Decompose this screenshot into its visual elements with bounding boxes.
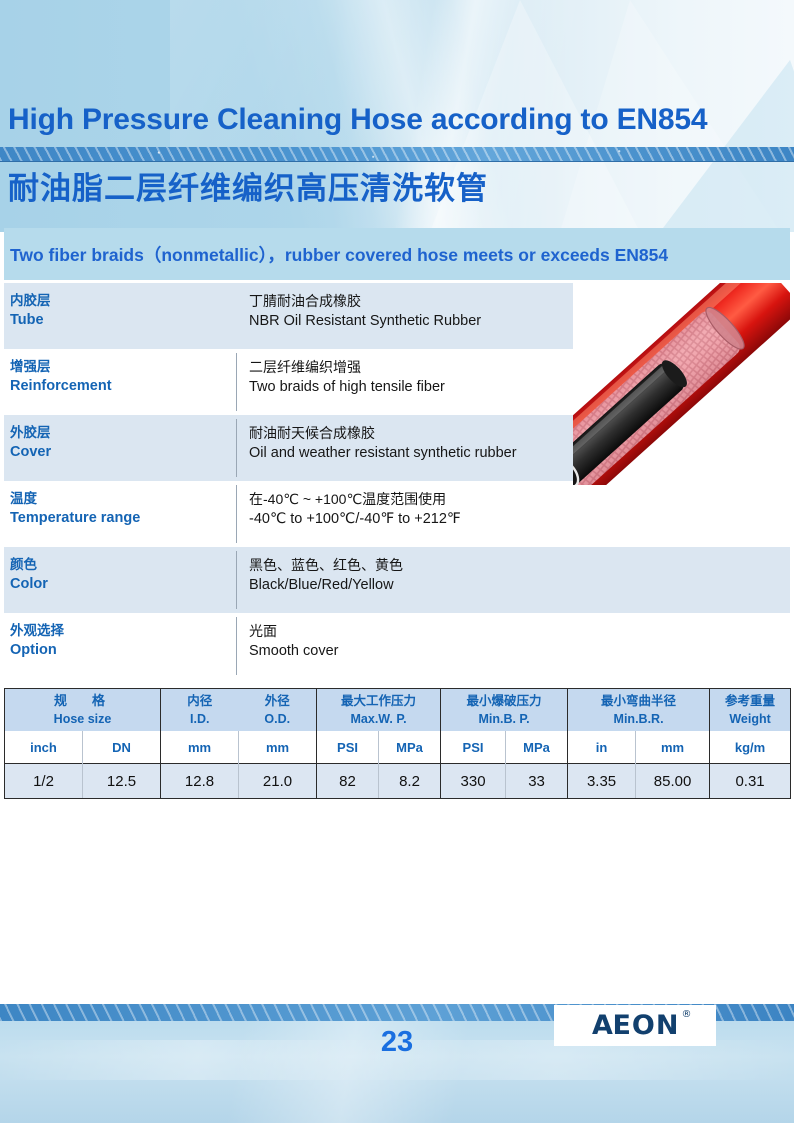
spec-label-en: Color: [10, 574, 236, 595]
spec-value-en: -40℃ to +100℃/-40℉ to +212℉: [249, 509, 790, 530]
cell-inch: 1/2: [5, 764, 83, 799]
spec-value-cn: 黑色、蓝色、红色、黄色: [249, 555, 790, 575]
spec-label-en: Reinforcement: [10, 376, 236, 397]
logo-letter-a: A: [591, 1012, 613, 1039]
spec-label: 外观选择 Option: [4, 613, 236, 679]
logo-letters-eon: EON: [612, 1010, 679, 1041]
table-unit-id-mm: mm: [161, 731, 239, 764]
spec-row: 颜色 Color 黑色、蓝色、红色、黄色 Black/Blue/Red/Yell…: [4, 547, 790, 613]
spec-value-cn: 在-40℃ ~ +100℃温度范围使用: [249, 489, 790, 509]
table-group-weight: 参考重量 Weight: [710, 689, 791, 732]
spec-label-cn: 内胶层: [10, 291, 236, 310]
page-title-chinese: 耐油脂二层纤维编织高压清洗软管: [8, 163, 788, 208]
cell-od-mm: 21.0: [239, 764, 317, 799]
group-label-en: Min.B. P.: [441, 710, 567, 728]
spec-label-en: Option: [10, 640, 236, 661]
group-label-cn: 参考重量: [710, 692, 790, 710]
table-row: 1/2 12.5 12.8 21.0 82 8.2 330 33 3.35 85…: [5, 764, 791, 799]
spec-label-cn: 外胶层: [10, 423, 236, 442]
specification-table: 规 格 Hose size 内径 I.D. 外径 O.D. 最大工作压力 Max…: [4, 688, 791, 799]
table-unit-inch: inch: [5, 731, 83, 764]
group-label-cn: 最小爆破压力: [441, 692, 567, 710]
group-label-en: O.D.: [239, 710, 317, 728]
spec-label: 内胶层 Tube: [4, 283, 236, 349]
subtitle-text: Two fiber braids（nonmetallic），rubber cov…: [4, 242, 668, 267]
table-unit-mbp-mpa: MPa: [506, 731, 568, 764]
hose-cutaway-photo: [573, 283, 790, 485]
table-unit-mwp-mpa: MPa: [379, 731, 441, 764]
cell-mbr-in: 3.35: [568, 764, 636, 799]
spec-label-cn: 增强层: [10, 357, 236, 376]
table-group-od: 外径 O.D.: [239, 689, 317, 732]
spec-label-en: Temperature range: [10, 508, 236, 529]
spec-label: 温度 Temperature range: [4, 481, 236, 547]
table-unit-dn: DN: [83, 731, 161, 764]
spec-label: 外胶层 Cover: [4, 415, 236, 481]
cell-mbr-mm: 85.00: [636, 764, 710, 799]
spec-value-cn: 光面: [249, 621, 790, 641]
table-group-max-working-pressure: 最大工作压力 Max.W. P.: [317, 689, 441, 732]
spec-label-en: Cover: [10, 442, 236, 463]
spec-label-cn: 外观选择: [10, 621, 236, 640]
spec-label: 增强层 Reinforcement: [4, 349, 236, 415]
subtitle-banner: Two fiber braids（nonmetallic），rubber cov…: [4, 228, 790, 280]
group-label-cn: 最大工作压力: [317, 692, 440, 710]
spec-value-en: Smooth cover: [249, 641, 790, 662]
spec-label-cn: 颜色: [10, 555, 236, 574]
table-group-min-bend-radius: 最小弯曲半径 Min.B.R.: [568, 689, 710, 732]
group-label-en: Min.B.R.: [568, 710, 709, 728]
registered-trademark-icon: ®: [681, 1010, 692, 1020]
spec-label-en: Tube: [10, 310, 236, 331]
cell-dn: 12.5: [83, 764, 161, 799]
table-unit-mwp-psi: PSI: [317, 731, 379, 764]
cell-id-mm: 12.8: [161, 764, 239, 799]
table-group-header-row: 规 格 Hose size 内径 I.D. 外径 O.D. 最大工作压力 Max…: [5, 689, 791, 732]
cell-weight: 0.31: [710, 764, 791, 799]
header-band-sparkles: [0, 147, 794, 161]
group-label-en: Weight: [710, 710, 790, 728]
group-label-cn: 最小弯曲半径: [568, 692, 709, 710]
group-label-en: Hose size: [5, 710, 160, 728]
group-label-cn: 规 格: [5, 692, 160, 710]
spec-value: 光面 Smooth cover: [237, 613, 790, 679]
table-group-hose-size: 规 格 Hose size: [5, 689, 161, 732]
spec-value-en: Black/Blue/Red/Yellow: [249, 575, 790, 596]
cell-mbp-psi: 330: [441, 764, 506, 799]
table-group-id: 内径 I.D.: [161, 689, 239, 732]
spec-value: 在-40℃ ~ +100℃温度范围使用 -40℃ to +100℃/-40℉ t…: [237, 481, 790, 547]
spec-value: 黑色、蓝色、红色、黄色 Black/Blue/Red/Yellow: [237, 547, 790, 613]
cell-mbp-mpa: 33: [506, 764, 568, 799]
group-label-en: I.D.: [161, 710, 239, 728]
group-label-cn: 内径: [161, 692, 239, 710]
group-label-cn: 外径: [239, 692, 317, 710]
group-label-en: Max.W. P.: [317, 710, 440, 728]
table-unit-header-row: inch DN mm mm PSI MPa PSI MPa in mm kg/m: [5, 731, 791, 764]
table-unit-mbr-in: in: [568, 731, 636, 764]
hose-illustration: [573, 283, 790, 485]
table-group-min-burst-pressure: 最小爆破压力 Min.B. P.: [441, 689, 568, 732]
spec-label-cn: 温度: [10, 489, 236, 508]
spec-row: 温度 Temperature range 在-40℃ ~ +100℃温度范围使用…: [4, 481, 790, 547]
table-unit-mbr-mm: mm: [636, 731, 710, 764]
table-unit-od-mm: mm: [239, 731, 317, 764]
table-unit-mbp-psi: PSI: [441, 731, 506, 764]
cell-mwp-psi: 82: [317, 764, 379, 799]
logo-wordmark: AEON®: [591, 1012, 680, 1039]
brand-logo: AEON®: [554, 1005, 716, 1046]
table-unit-weight: kg/m: [710, 731, 791, 764]
cell-mwp-mpa: 8.2: [379, 764, 441, 799]
spec-row: 外观选择 Option 光面 Smooth cover: [4, 613, 790, 679]
spec-label: 颜色 Color: [4, 547, 236, 613]
page-title-english: High Pressure Cleaning Hose according to…: [8, 103, 788, 137]
